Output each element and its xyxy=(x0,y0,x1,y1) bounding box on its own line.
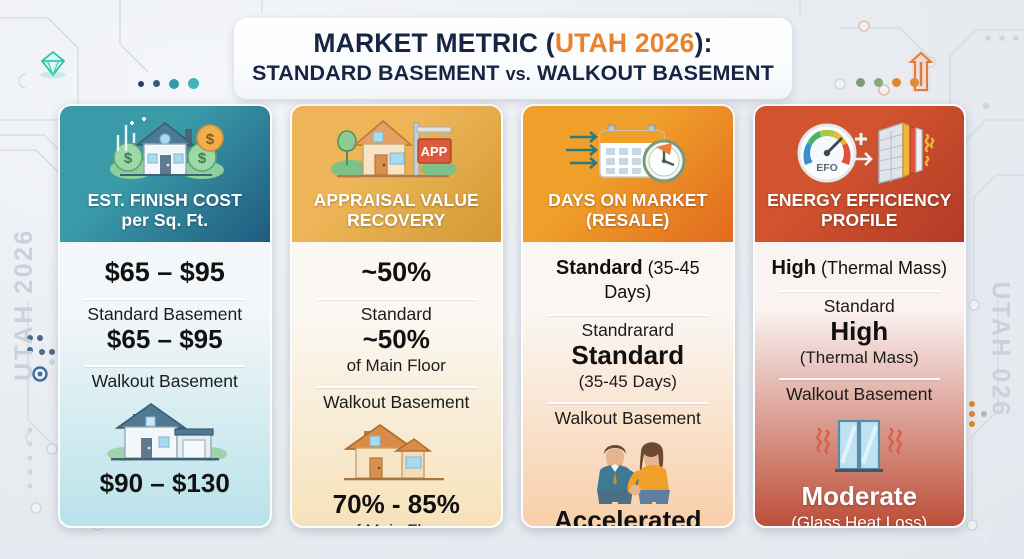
card-4-walkout-value: Moderate xyxy=(791,482,927,512)
card-3-standard-label: Standrarard xyxy=(582,320,674,342)
card-4-title-line-1: ENERGY EFFICIENCY xyxy=(767,190,951,210)
decorative-dot xyxy=(910,78,919,87)
card-3-top-value: Standard (35-45 Days) xyxy=(532,256,724,304)
card-1-body: $65 – $95 Standard Basement $65 – $95 Wa… xyxy=(60,242,270,526)
card-appraisal-value-recovery[interactable]: APP APPRAISAL VALUE RECOVERY ~50% Standa… xyxy=(290,104,504,528)
card-2-walkout-note: of Main Floor xyxy=(347,520,446,528)
card-days-on-market[interactable]: DAYS ON MARKET (RESALE) Standard (35-45 … xyxy=(521,104,735,528)
card-1-title-line-2: per Sq. Ft. xyxy=(88,210,242,230)
svg-text:APP: APP xyxy=(421,144,448,159)
card-energy-efficiency-profile[interactable]: EFO xyxy=(753,104,967,528)
card-1-divider-bottom xyxy=(84,365,245,367)
card-2-walkout-value: 70% - 85% xyxy=(333,490,460,520)
card-2-title-line-1: APPRAISAL VALUE xyxy=(314,190,479,210)
decorative-dot xyxy=(138,81,144,87)
gauge-label: EFO xyxy=(816,162,838,174)
card-2-standard-label: Standard xyxy=(361,304,432,326)
dot-row-left xyxy=(138,78,199,89)
card-3-title-line-2: (RESALE) xyxy=(548,210,707,230)
card-1-title-line-1: EST. FINISH COST xyxy=(88,190,242,210)
couple-icon xyxy=(570,432,686,506)
card-3-title: DAYS ON MARKET (RESALE) xyxy=(542,187,713,231)
card-2-standard-value: ~50% xyxy=(363,325,430,355)
svg-text:$: $ xyxy=(124,150,133,167)
title-walkout: WALKOUT BASEMENT xyxy=(531,61,774,85)
house-with-appraisal-sign-icon: APP xyxy=(292,113,502,187)
metric-card-row: $ $ $ xyxy=(0,104,1024,528)
card-4-standard-label: Standard xyxy=(824,296,895,318)
card-3-standard-value: Standard xyxy=(571,341,684,371)
card-4-standard-note: (Thermal Mass) xyxy=(800,347,919,368)
card-3-body: Standard (35-45 Days) Standrarard Standa… xyxy=(523,242,733,528)
card-1-title: EST. FINISH COST per Sq. Ft. xyxy=(82,187,248,231)
decorative-dot xyxy=(188,78,199,89)
glass-doors-heat-icon xyxy=(799,408,919,482)
card-1-walkout-label: Walkout Basement xyxy=(92,371,238,393)
card-4-top-value-light: (Thermal Mass) xyxy=(816,258,947,278)
card-3-walkout-label: Walkout Basement xyxy=(555,408,701,430)
dot-row-right xyxy=(856,78,919,87)
card-2-divider-bottom xyxy=(316,386,477,388)
card-4-standard-value: High xyxy=(830,317,888,347)
gem-icon xyxy=(37,48,69,80)
decorative-dot xyxy=(892,78,901,87)
decorative-dot xyxy=(856,78,865,87)
card-2-divider-top xyxy=(316,298,477,300)
arrow-up-marker-icon xyxy=(904,48,938,94)
decorative-dot xyxy=(874,78,883,87)
card-1-standard-value: $65 – $95 xyxy=(107,325,223,355)
card-1-divider-top xyxy=(84,298,245,300)
card-3-walkout-value: Accelerated xyxy=(554,506,701,528)
card-4-divider-bottom xyxy=(779,378,940,380)
decorative-dot xyxy=(169,79,179,89)
card-4-divider-top xyxy=(779,290,940,292)
page-title-line-2: STANDARD BASEMENT vs. WALKOUT BASEMENT xyxy=(248,60,778,87)
card-2-top-value: ~50% xyxy=(361,256,431,288)
card-4-header: EFO xyxy=(755,106,965,242)
decorative-dot xyxy=(153,80,160,87)
card-1-standard-label: Standard Basement xyxy=(87,304,242,326)
calendar-clock-icon xyxy=(523,113,733,187)
page-title-line-1: MARKET METRIC (UTAH 2026): xyxy=(248,28,778,59)
card-1-top-value: $65 – $95 xyxy=(105,256,225,288)
card-3-standard-note: (35-45 Days) xyxy=(579,371,677,392)
card-3-top-value-bold: Standard xyxy=(556,257,643,279)
walkout-house-icon xyxy=(336,416,456,490)
title-suffix: ): xyxy=(695,28,713,58)
card-3-divider-bottom xyxy=(547,402,708,404)
card-2-walkout-label: Walkout Basement xyxy=(323,392,469,414)
card-4-walkout-values: Moderate (Glass Heat Loss) xyxy=(791,483,927,528)
card-4-top-value: High (Thermal Mass) xyxy=(772,256,947,280)
card-4-walkout-note: (Glass Heat Loss) xyxy=(791,512,927,528)
card-4-title-line-2: PROFILE xyxy=(767,210,951,230)
card-4-walkout-label: Walkout Basement xyxy=(786,384,932,406)
title-banner: MARKET METRIC (UTAH 2026): STANDARD BASE… xyxy=(234,18,792,99)
card-2-header: APP APPRAISAL VALUE RECOVERY xyxy=(292,106,502,242)
card-4-body: High (Thermal Mass) Standard High (Therm… xyxy=(755,242,965,528)
card-3-divider-top xyxy=(547,314,708,316)
title-standard: STANDARD BASEMENT xyxy=(252,61,505,85)
card-2-title-line-2: RECOVERY xyxy=(314,210,479,230)
title-prefix: MARKET METRIC ( xyxy=(313,28,554,58)
card-1-walkout-value: $90 – $130 xyxy=(100,469,230,499)
efficiency-gauge-wall-icon: EFO xyxy=(755,113,965,187)
card-2-standard-note: of Main Floor xyxy=(347,355,446,376)
card-2-title: APPRAISAL VALUE RECOVERY xyxy=(308,187,485,231)
title-vs: vs. xyxy=(506,64,531,84)
card-3-title-line-1: DAYS ON MARKET xyxy=(548,190,707,210)
svg-text:$: $ xyxy=(206,131,215,148)
card-4-top-value-bold: High xyxy=(772,257,816,279)
title-accent-utah-2026: UTAH 2026 xyxy=(555,28,695,58)
house-with-money-icon: $ $ $ xyxy=(60,113,270,187)
card-2-body: ~50% Standard ~50% of Main Floor Walkout… xyxy=(292,242,502,528)
svg-text:$: $ xyxy=(198,150,207,167)
card-est-finish-cost[interactable]: $ $ $ xyxy=(58,104,272,528)
card-3-header: DAYS ON MARKET (RESALE) xyxy=(523,106,733,242)
card-4-title: ENERGY EFFICIENCY PROFILE xyxy=(761,187,957,231)
card-1-header: $ $ $ xyxy=(60,106,270,242)
walkout-house-icon xyxy=(99,395,231,469)
